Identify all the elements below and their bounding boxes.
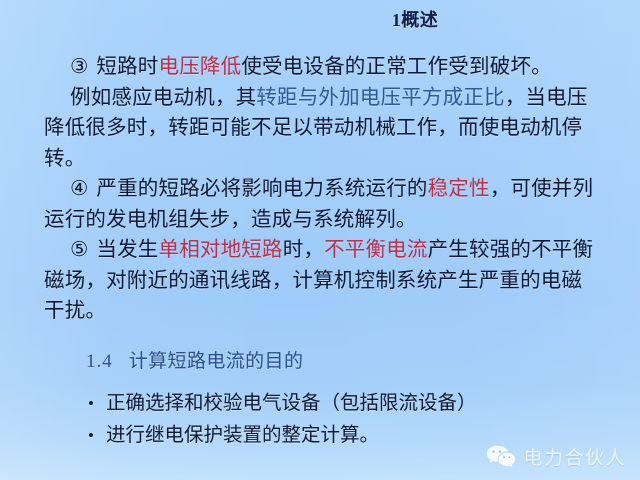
body-text: 严重的短路必将影响电力系统运行的 <box>96 178 427 200</box>
section-title: 计算短路电流的目的 <box>129 351 304 372</box>
list-item-label: 正确选择和校验电气设备（包括限流设备） <box>106 388 588 420</box>
body-text-block: ③短路时电压降低使受电设备的正常工作受到破坏。 例如感应电动机，其转距与外加电压… <box>44 52 600 327</box>
list-item: • 正确选择和校验电气设备（包括限流设备） <box>88 388 588 420</box>
section-heading-1-4: 1.4计算短路电流的目的 <box>86 349 303 375</box>
paragraph-example: 例如感应电动机，其转距与外加电压平方成正比，当电压降低很多时，转距可能不足以带动… <box>44 83 600 175</box>
paragraph-marker: ⑤ <box>70 239 88 261</box>
slide-canvas: 1概述 ③短路时电压降低使受电设备的正常工作受到破坏。 例如感应电动机，其转距与… <box>0 0 640 480</box>
paragraph-4: ④严重的短路必将影响电力系统运行的稳定性，可使并列运行的发电机组失步，造成与系统… <box>44 174 600 235</box>
highlight-red-text: 不平衡电流 <box>324 239 428 261</box>
body-text: 当发生 <box>96 239 158 261</box>
list-item-label: 进行继电保护装置的整定计算。 <box>106 420 588 452</box>
body-text: 使受电设备的正常工作受到破坏。 <box>241 56 552 78</box>
paragraph-marker: ④ <box>70 178 88 200</box>
body-text: 例如感应电动机，其 <box>70 87 256 109</box>
page-title: 1概述 <box>392 6 439 32</box>
paragraph-5: ⑤当发生单相对地短路时，不平衡电流产生较强的不平衡磁场，对附近的通讯线路，计算机… <box>44 235 600 327</box>
highlight-red-text: 稳定性 <box>428 178 490 200</box>
body-text: 短路时 <box>96 56 158 78</box>
section-number: 1.4 <box>86 351 113 372</box>
body-text: 时， <box>283 239 324 261</box>
highlight-red-text: 单相对地短路 <box>159 239 283 261</box>
bullet-dot-icon: • <box>88 420 106 452</box>
bullet-list: • 正确选择和校验电气设备（包括限流设备） • 进行继电保护装置的整定计算。 <box>88 388 588 452</box>
paragraph-3: ③短路时电压降低使受电设备的正常工作受到破坏。 <box>44 52 600 83</box>
slide-header: 1概述 <box>0 6 640 32</box>
bullet-dot-icon: • <box>88 388 106 420</box>
paragraph-marker: ③ <box>70 56 88 78</box>
highlight-red-text: 电压降低 <box>159 56 242 78</box>
highlight-blue-text: 转距与外加电压平方成正比 <box>256 87 504 109</box>
list-item: • 进行继电保护装置的整定计算。 <box>88 420 588 452</box>
